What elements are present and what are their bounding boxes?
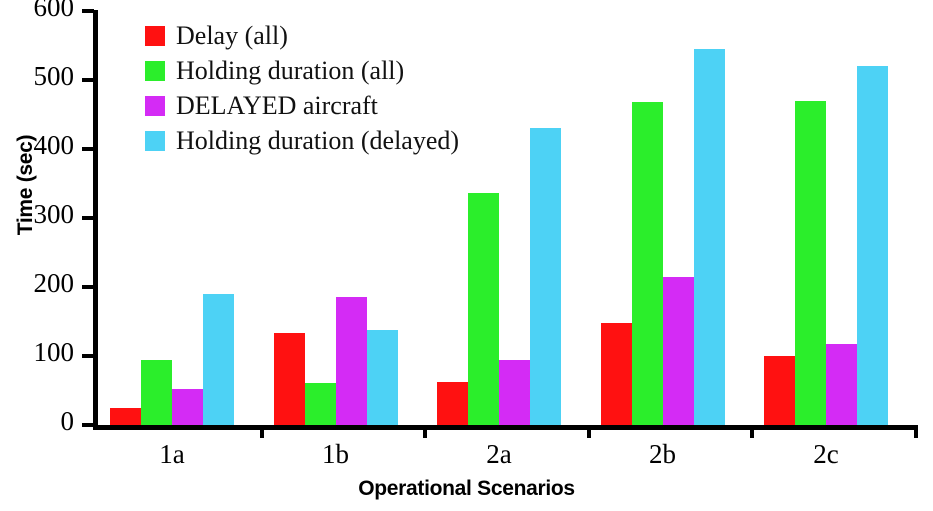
legend-swatch-icon <box>145 26 165 46</box>
legend-label: Holding duration (all) <box>176 58 404 84</box>
legend: Delay (all)Holding duration (all)DELAYED… <box>145 18 459 158</box>
bar-2b-series1 <box>601 323 632 425</box>
bar-1a-series2 <box>141 360 172 425</box>
y-axis-tick <box>82 216 94 220</box>
x-axis-title: Operational Scenarios <box>0 477 933 501</box>
y-axis-tick <box>82 78 94 82</box>
legend-item-2: Holding duration (all) <box>145 53 459 88</box>
y-axis-tick-label: 300 <box>0 201 74 228</box>
x-axis-tick-label-2c: 2c <box>766 441 886 468</box>
y-axis-tick-label: 200 <box>0 270 74 297</box>
bar-1a-series3 <box>172 389 203 425</box>
x-axis-tick-label-1a: 1a <box>112 441 232 468</box>
y-axis-tick-label: 400 <box>0 132 74 159</box>
bar-chart: Time (sec) 0100200300400500600 1a1b2a2b2… <box>0 0 933 511</box>
y-axis-title: Time (sec) <box>14 95 38 275</box>
bar-1b-series2 <box>305 383 336 425</box>
legend-item-4: Holding duration (delayed) <box>145 123 459 158</box>
bar-1b-series4 <box>367 330 398 425</box>
bar-1b-series1 <box>274 333 305 425</box>
bar-2b-series3 <box>663 277 694 425</box>
bar-2b-series4 <box>694 49 725 425</box>
y-axis-tick-label: 500 <box>0 63 74 90</box>
bar-2b-series2 <box>632 102 663 425</box>
legend-label: Delay (all) <box>176 23 288 49</box>
bar-2a-series3 <box>499 360 530 425</box>
x-axis-line <box>93 425 915 430</box>
x-axis-tick-label-2b: 2b <box>603 441 723 468</box>
bar-2a-series2 <box>468 193 499 425</box>
legend-item-1: Delay (all) <box>145 18 459 53</box>
legend-swatch-icon <box>145 61 165 81</box>
bar-1b-series3 <box>336 297 367 425</box>
x-axis-tick-label-1b: 1b <box>276 441 396 468</box>
bar-2c-series3 <box>826 344 857 425</box>
bar-2a-series1 <box>437 382 468 425</box>
x-axis-tick <box>750 425 754 438</box>
bar-2a-series4 <box>530 128 561 425</box>
bar-1a-series1 <box>110 408 141 425</box>
y-axis-tick <box>82 354 94 358</box>
y-axis-tick <box>82 285 94 289</box>
bar-2c-series1 <box>764 356 795 425</box>
x-axis-tick <box>587 425 591 438</box>
x-axis-tick <box>914 425 918 438</box>
y-axis-tick <box>82 147 94 151</box>
legend-item-3: DELAYED aircraft <box>145 88 459 123</box>
x-axis-tick <box>423 425 427 438</box>
y-axis-tick <box>82 9 94 13</box>
y-axis-tick-label: 100 <box>0 339 74 366</box>
bar-1a-series4 <box>203 294 234 425</box>
legend-swatch-icon <box>145 96 165 116</box>
legend-label: DELAYED aircraft <box>176 93 378 119</box>
x-axis-tick <box>260 425 264 438</box>
y-axis-tick-label: 600 <box>0 0 74 21</box>
bar-2c-series4 <box>857 66 888 425</box>
y-axis-tick-label: 0 <box>0 408 74 435</box>
legend-label: Holding duration (delayed) <box>176 128 459 154</box>
legend-swatch-icon <box>145 131 165 151</box>
bar-2c-series2 <box>795 101 826 425</box>
x-axis-tick-label-2a: 2a <box>439 441 559 468</box>
